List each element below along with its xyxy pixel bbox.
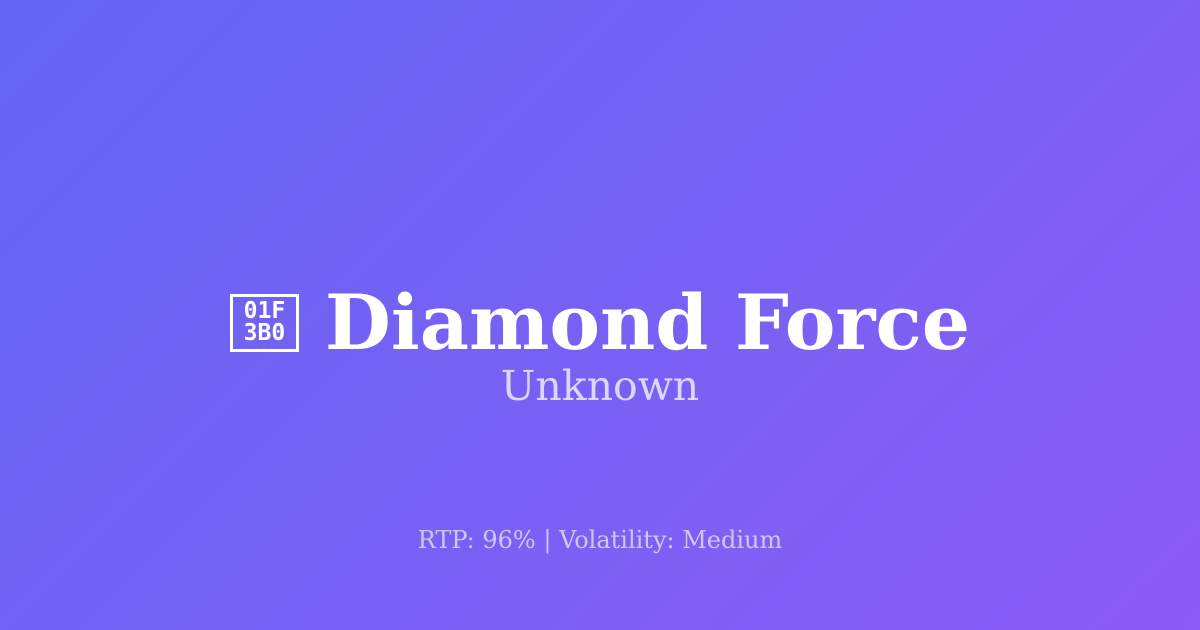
slot-machine-icon: 01F 3B0: [230, 294, 299, 352]
tofu-codepoint-top: 01F: [244, 301, 286, 323]
og-card: 01F 3B0 Diamond Force Unknown RTP: 96% |…: [0, 0, 1200, 630]
page-title: Diamond Force: [325, 283, 970, 363]
card-meta-line: RTP: 96% | Volatility: Medium: [0, 526, 1200, 555]
card-subtitle: Unknown: [0, 363, 1200, 410]
tofu-codepoint-bottom: 3B0: [244, 323, 286, 345]
